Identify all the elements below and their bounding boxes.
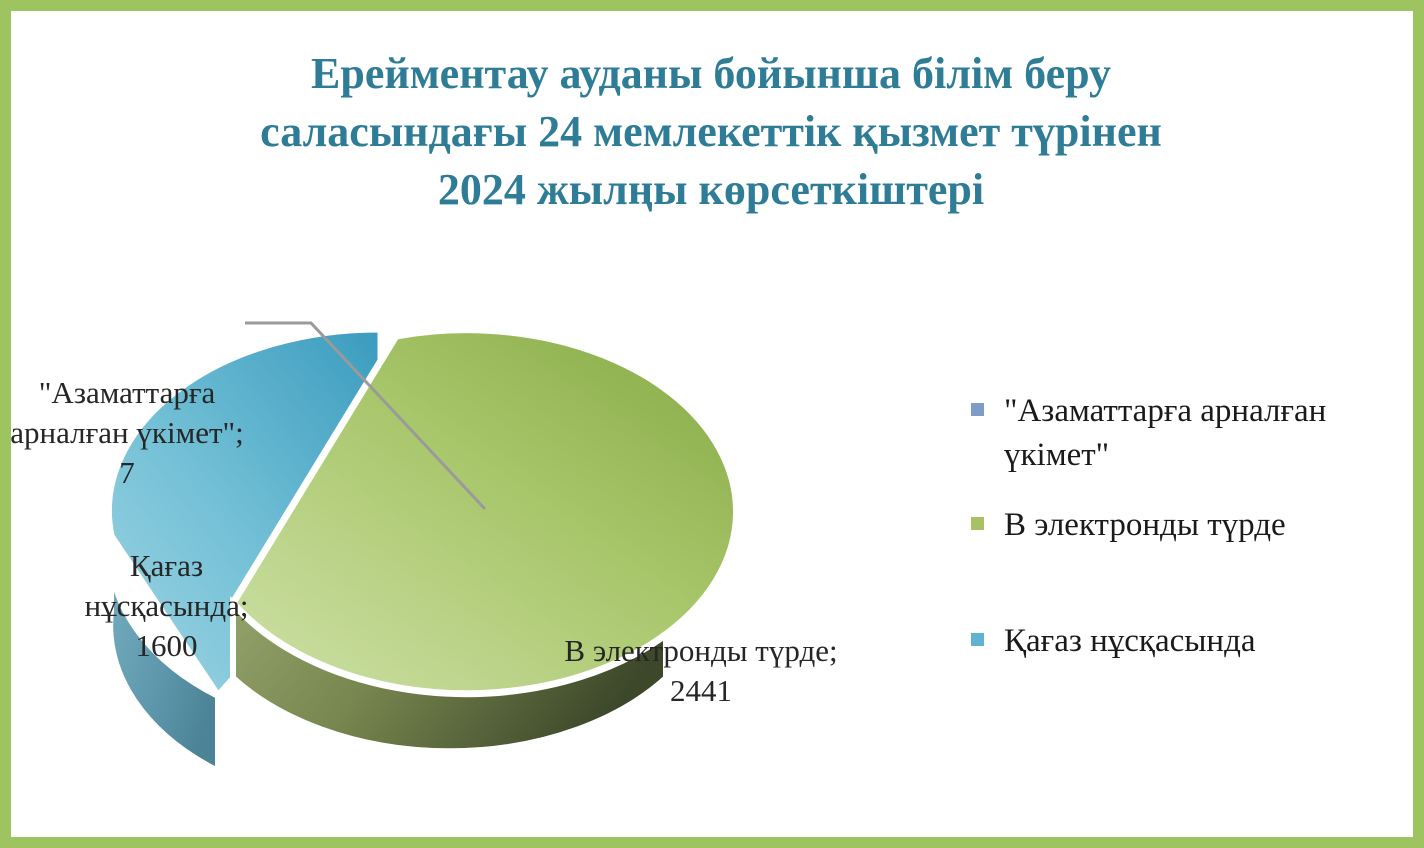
legend-label-paper: Қағаз нұсқасында xyxy=(1004,619,1256,663)
legend-item-electronic[interactable]: В электронды түрде xyxy=(971,503,1401,547)
slide-canvas: Ереймeнтау ауданы бойынша білім беру сал… xyxy=(11,11,1413,837)
data-label-electronic: В электронды түрде; 2441 xyxy=(551,631,851,711)
pie-chart-plot-area: "Азаматтарға арналған үкімет"; 7 Қағаз н… xyxy=(11,191,941,811)
legend-item-azamat[interactable]: "Азаматтарға арналған үкімет" xyxy=(971,389,1401,477)
title-line-2: саласындағы 24 мемлекеттік қызмет түріне… xyxy=(121,103,1301,161)
legend-label-electronic: В электронды түрде xyxy=(1004,503,1286,547)
legend-swatch-icon-azamat xyxy=(971,403,984,416)
legend-item-paper[interactable]: Қағаз нұсқасында xyxy=(971,619,1401,663)
legend-swatch-icon-electronic xyxy=(971,517,984,530)
chart-legend: "Азаматтарға арналған үкімет" В электрон… xyxy=(971,389,1401,689)
legend-swatch-icon-paper xyxy=(971,633,984,646)
title-line-1: Ереймeнтау ауданы бойынша білім беру xyxy=(121,45,1301,103)
pie-chart-graphic xyxy=(11,191,941,811)
legend-label-azamat: "Азаматтарға арналған үкімет" xyxy=(1004,389,1401,477)
data-label-azamat: "Азаматтарға арналған үкімет"; 7 xyxy=(11,373,247,493)
data-label-qagaz: Қағаз нұсқасында; 1600 xyxy=(59,546,274,666)
